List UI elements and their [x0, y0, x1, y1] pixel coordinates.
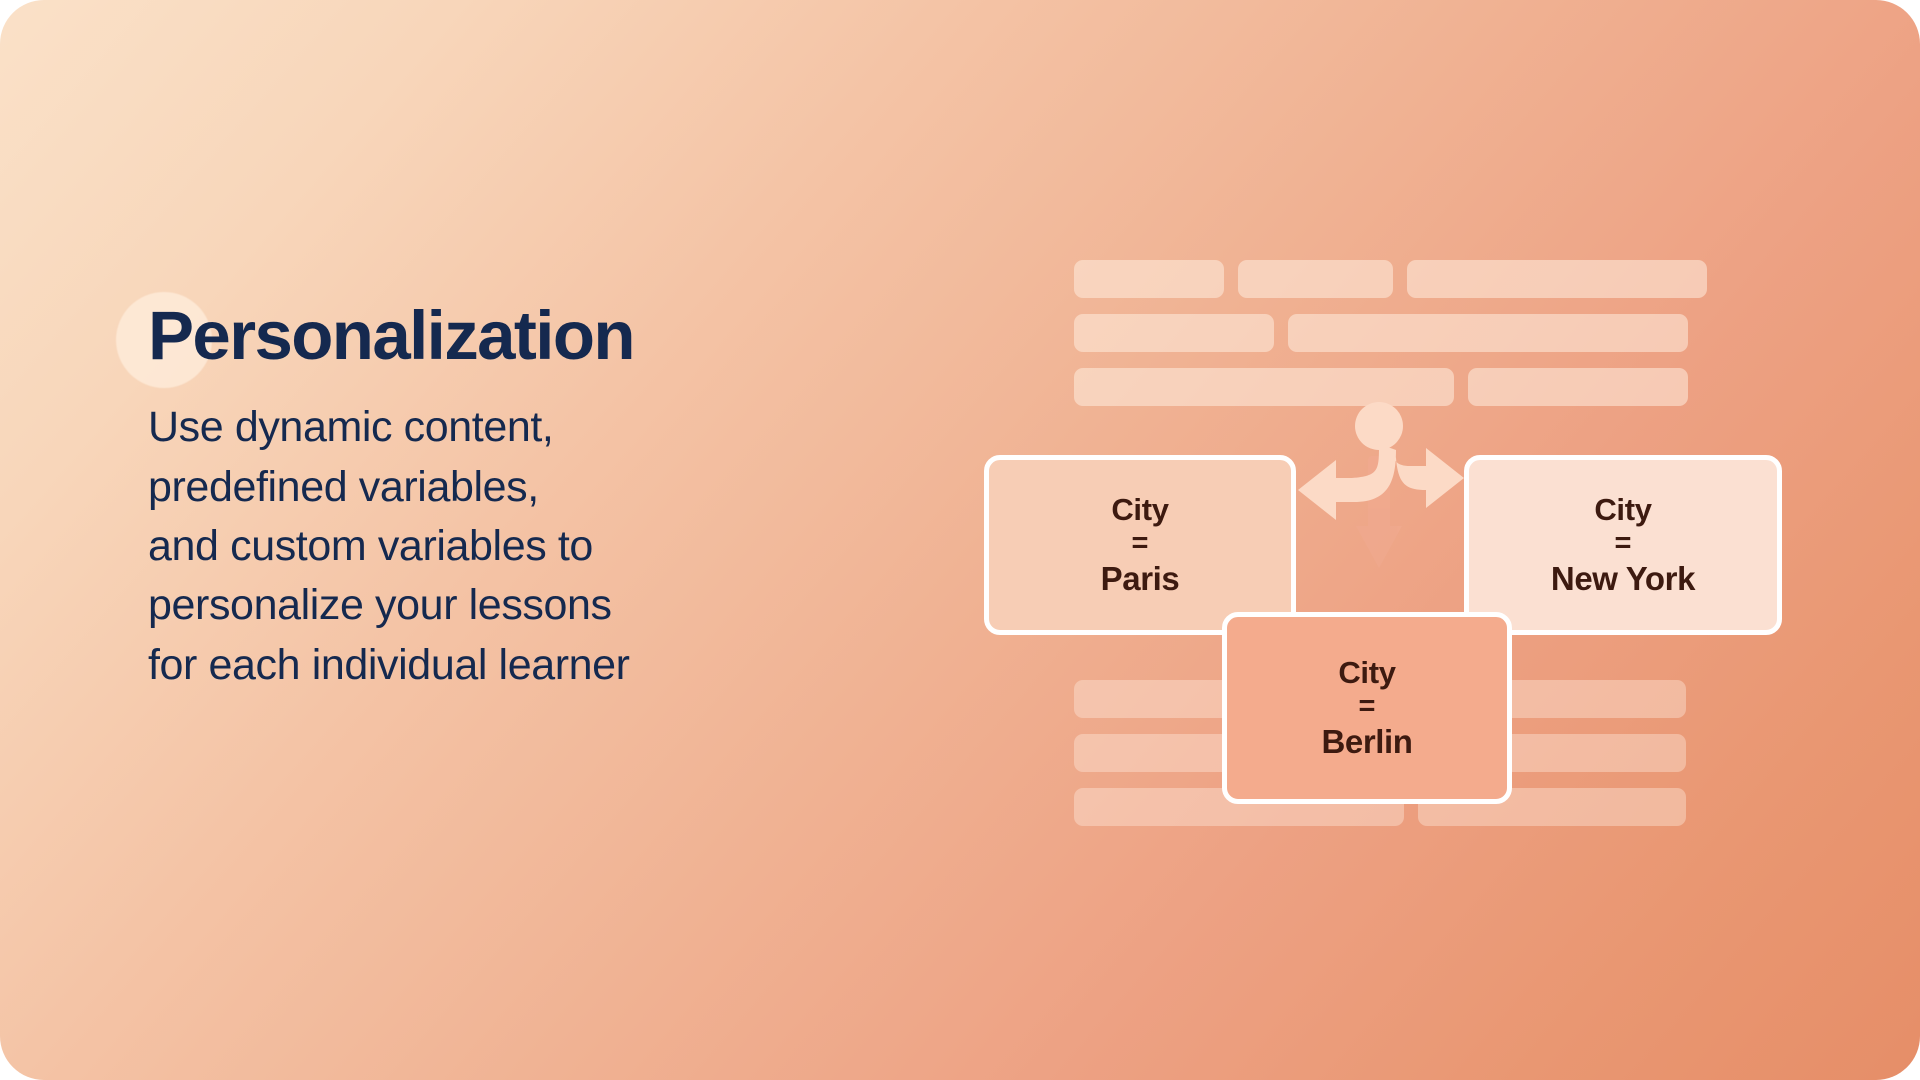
body-line-3: and custom variables to: [148, 517, 908, 576]
body-line-5: for each individual learner: [148, 636, 908, 695]
body-line-4: personalize your lessons: [148, 576, 908, 635]
body-line-1: Use dynamic content,: [148, 398, 908, 457]
variable-operator: =: [1615, 527, 1632, 559]
personalization-illustration: City = Paris City = New York City = Berl…: [1060, 230, 1700, 850]
variable-card-paris[interactable]: City = Paris: [984, 455, 1296, 635]
variable-key: City: [1111, 494, 1168, 527]
variable-key: City: [1338, 657, 1395, 690]
branching-three-way-arrow-icon: [1284, 398, 1474, 578]
variable-card-new-york[interactable]: City = New York: [1464, 455, 1782, 635]
variable-value: New York: [1551, 561, 1695, 597]
body-paragraph: Use dynamic content, predefined variable…: [148, 398, 908, 695]
placeholder-bar-row: [1074, 260, 1707, 298]
variable-key: City: [1594, 494, 1651, 527]
left-text-panel: Personalization Use dynamic content, pre…: [148, 300, 908, 695]
feature-card: Personalization Use dynamic content, pre…: [0, 0, 1920, 1080]
variable-operator: =: [1359, 690, 1376, 722]
variable-value: Berlin: [1321, 724, 1412, 760]
variable-card-berlin[interactable]: City = Berlin: [1222, 612, 1512, 804]
body-line-2: predefined variables,: [148, 458, 908, 517]
page-title: Personalization: [148, 300, 908, 372]
placeholder-bar: [1074, 260, 1224, 298]
placeholder-bar: [1074, 314, 1274, 352]
variable-operator: =: [1132, 527, 1149, 559]
placeholder-bar: [1288, 314, 1688, 352]
placeholder-bar-row: [1074, 314, 1688, 352]
placeholder-bar: [1407, 260, 1707, 298]
placeholder-bar: [1238, 260, 1393, 298]
placeholder-bar: [1468, 368, 1688, 406]
placeholder-bar: [1488, 680, 1686, 718]
variable-value: Paris: [1101, 561, 1180, 597]
